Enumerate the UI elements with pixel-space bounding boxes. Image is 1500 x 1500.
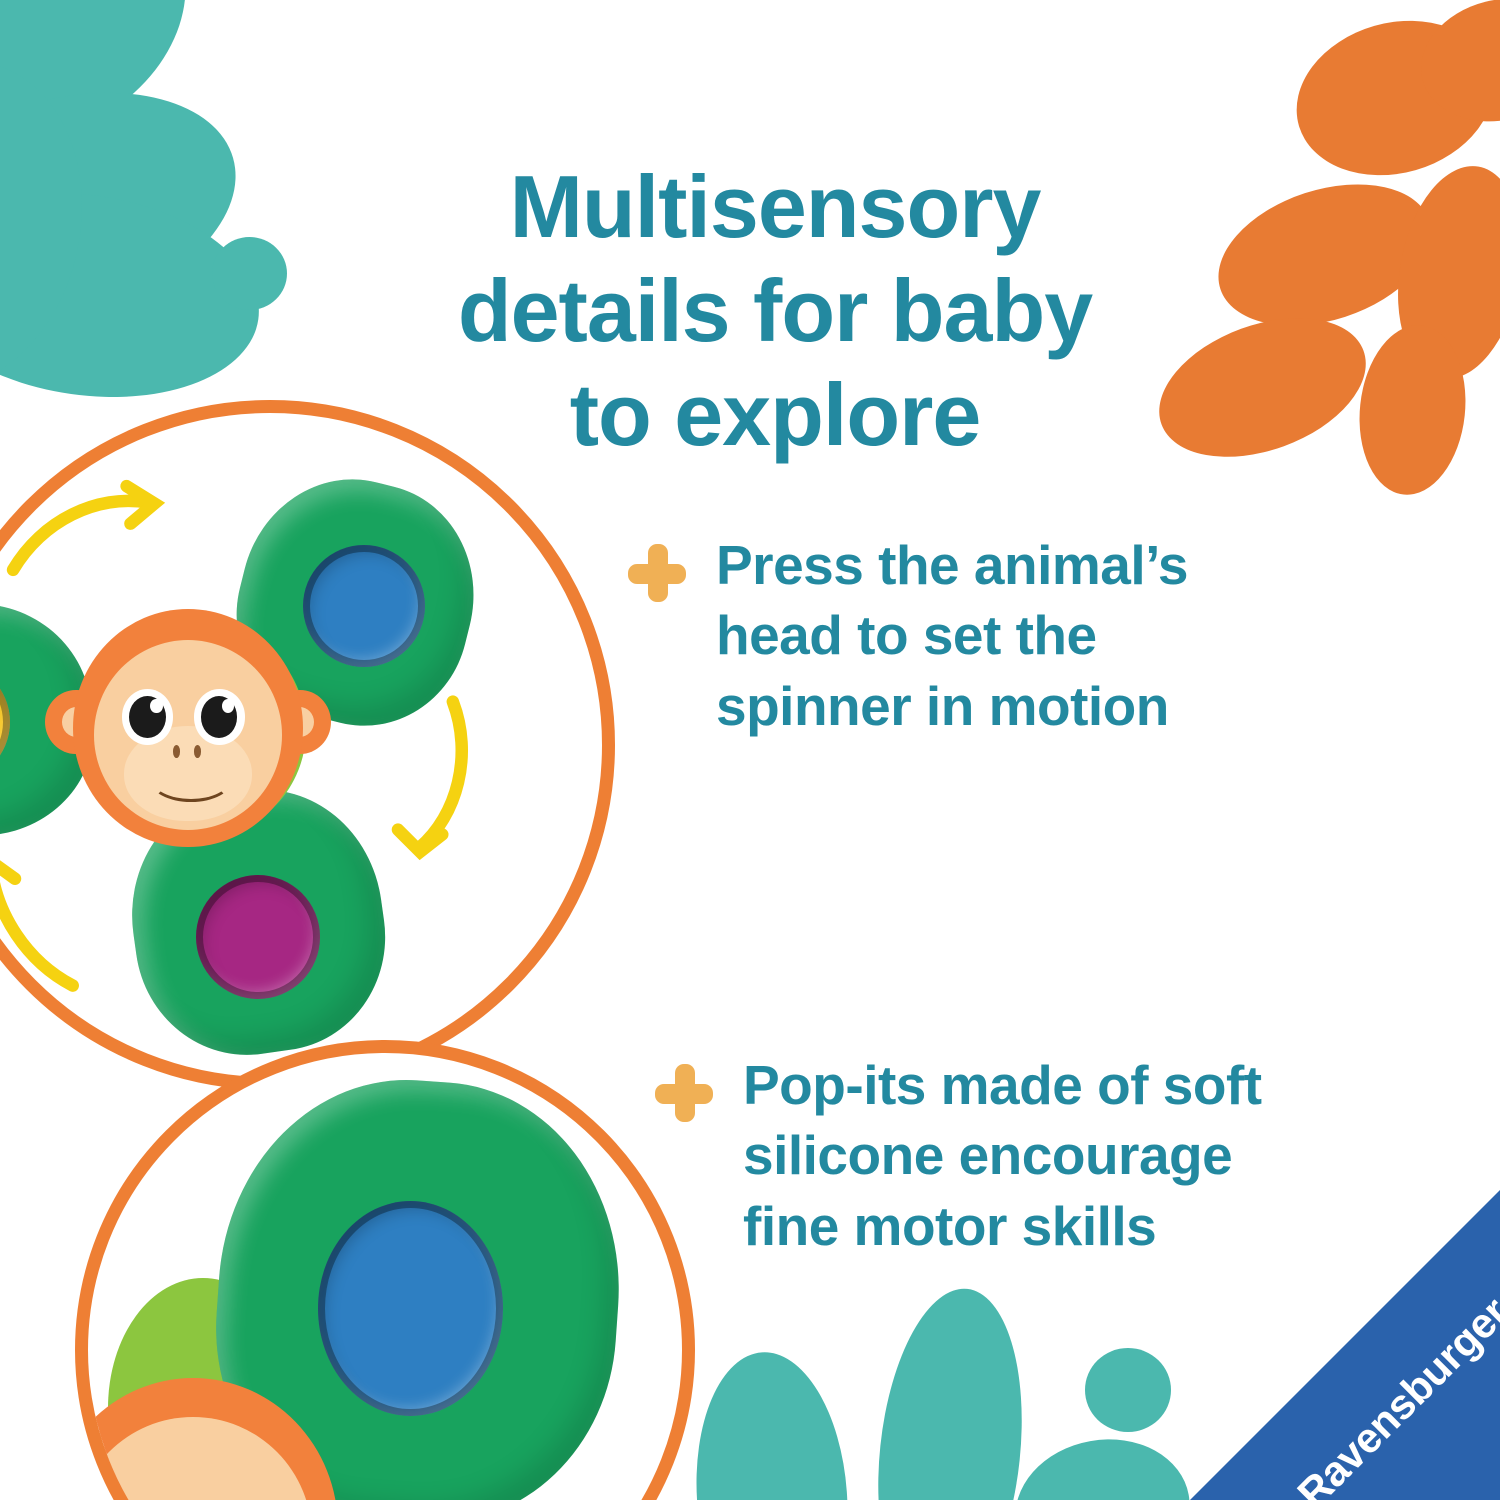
teal-leaf-shape — [1004, 1426, 1201, 1500]
monkey-eye-right — [194, 689, 245, 744]
monkey-pupil-left — [129, 696, 166, 738]
feature-bullet-2-text: Pop-its made of soft silicone encourage … — [743, 1050, 1262, 1261]
headline-line-1: Multisensory — [510, 157, 1041, 256]
monkey-eye-left — [122, 689, 173, 744]
bullet-2-line-3: fine motor skills — [743, 1195, 1156, 1257]
headline-line-3: to explore — [570, 365, 981, 464]
feature-bullet-1: Press the animal’s head to set the spinn… — [628, 530, 1358, 741]
monkey-pupil-right — [201, 696, 238, 738]
monkey-smile — [150, 758, 231, 802]
bullet-2-line-1: Pop-its made of soft — [743, 1054, 1262, 1116]
popit-closeup-stage — [88, 1053, 682, 1500]
teal-leaf-shape — [687, 1347, 857, 1500]
bullet-1-line-1: Press the animal’s — [716, 534, 1188, 596]
plus-icon — [628, 544, 686, 602]
monkey-head — [73, 609, 303, 847]
bullet-1-line-3: spinner in motion — [716, 675, 1169, 737]
popit-magenta — [196, 875, 320, 999]
teal-leaf-dot — [212, 237, 287, 310]
monkey-head-partial — [75, 1378, 338, 1500]
monkey-spinner-toy — [0, 413, 602, 1077]
popit-blue — [303, 545, 425, 667]
product-feature-image: Multisensory details for baby to explore — [0, 0, 1500, 1500]
product-photo-popit-closeup — [75, 1040, 695, 1500]
product-photo-spinner-full — [0, 400, 615, 1090]
brand-logo-corner: Ravensburger — [1190, 1190, 1500, 1500]
popit-blue — [318, 1201, 503, 1416]
feature-bullet-1-text: Press the animal’s head to set the spinn… — [716, 530, 1188, 741]
bullet-2-line-2: silicone encourage — [743, 1124, 1232, 1186]
teal-leaf-dot — [1085, 1348, 1171, 1432]
bullet-1-line-2: head to set the — [716, 604, 1097, 666]
teal-leaf-shape — [863, 1282, 1037, 1500]
monkey-nostril-right — [194, 745, 202, 758]
monkey-face — [94, 640, 283, 830]
headline-line-2: details for baby — [458, 261, 1092, 360]
